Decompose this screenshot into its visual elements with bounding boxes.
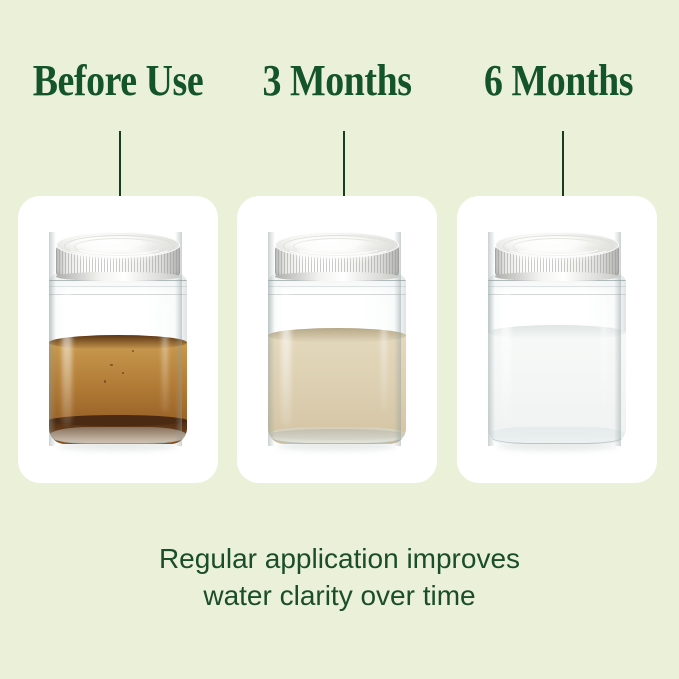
column-heading-before-use: Before Use (32, 52, 204, 110)
jar-lid-icon (56, 232, 180, 286)
jar-card-before-use (18, 196, 218, 483)
jar-card-3-months (237, 196, 437, 483)
debris-speck (122, 372, 124, 374)
jar-illustration-6-months (483, 232, 631, 446)
caption-line-2: water clarity over time (0, 577, 679, 614)
debris-speck (132, 350, 134, 352)
column-heading-3-months: 3 Months (251, 52, 423, 110)
connector-line-2 (343, 131, 345, 203)
jar-illustration-3-months (263, 232, 411, 446)
column-heading-6-months: 6 Months (471, 52, 646, 110)
infographic-root: Before Use 3 Months 6 Months (0, 0, 679, 679)
caption: Regular application improves water clari… (0, 540, 679, 614)
debris-speck (104, 380, 106, 383)
connector-line-3 (562, 131, 564, 203)
connector-line-1 (119, 131, 121, 203)
jar-lid-icon (275, 232, 399, 286)
debris-speck (110, 364, 113, 366)
jar-lid-icon (495, 232, 619, 286)
jar-illustration-before-use (44, 232, 192, 446)
jar-card-6-months (457, 196, 657, 483)
caption-line-1: Regular application improves (0, 540, 679, 577)
